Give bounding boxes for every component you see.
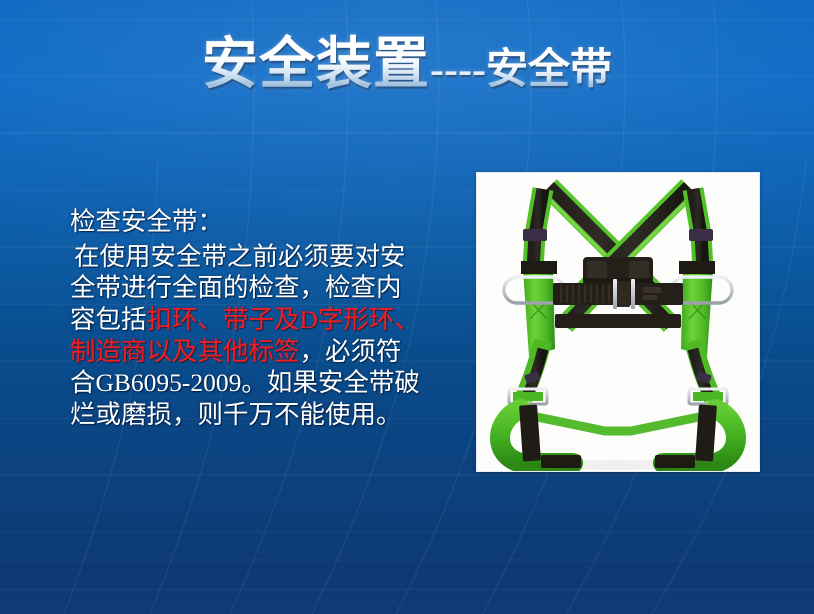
body-text-block: 检查安全带：在使用安全带之前必须要对安全带进行全面的检查，检查内容包括扣环、带子… bbox=[70, 143, 422, 494]
title-sub: 安全带 bbox=[486, 47, 612, 94]
slide-title: 安全装置----安全带 bbox=[0, 34, 814, 97]
title-main: 安全装置 bbox=[202, 34, 430, 97]
slide-canvas: 安全装置----安全带 检查安全带：在使用安全带之前必须要对安全带进行全面的检查… bbox=[0, 0, 814, 614]
title-dashes: ---- bbox=[430, 47, 486, 94]
body-paragraph: 在使用安全带之前必须要对安全带进行全面的检查，检查内容包括扣环、带子及D字形环、… bbox=[70, 241, 422, 431]
harness-illustration bbox=[477, 173, 759, 471]
harness-image bbox=[476, 172, 760, 472]
body-lead: 检查安全带： bbox=[70, 206, 422, 238]
